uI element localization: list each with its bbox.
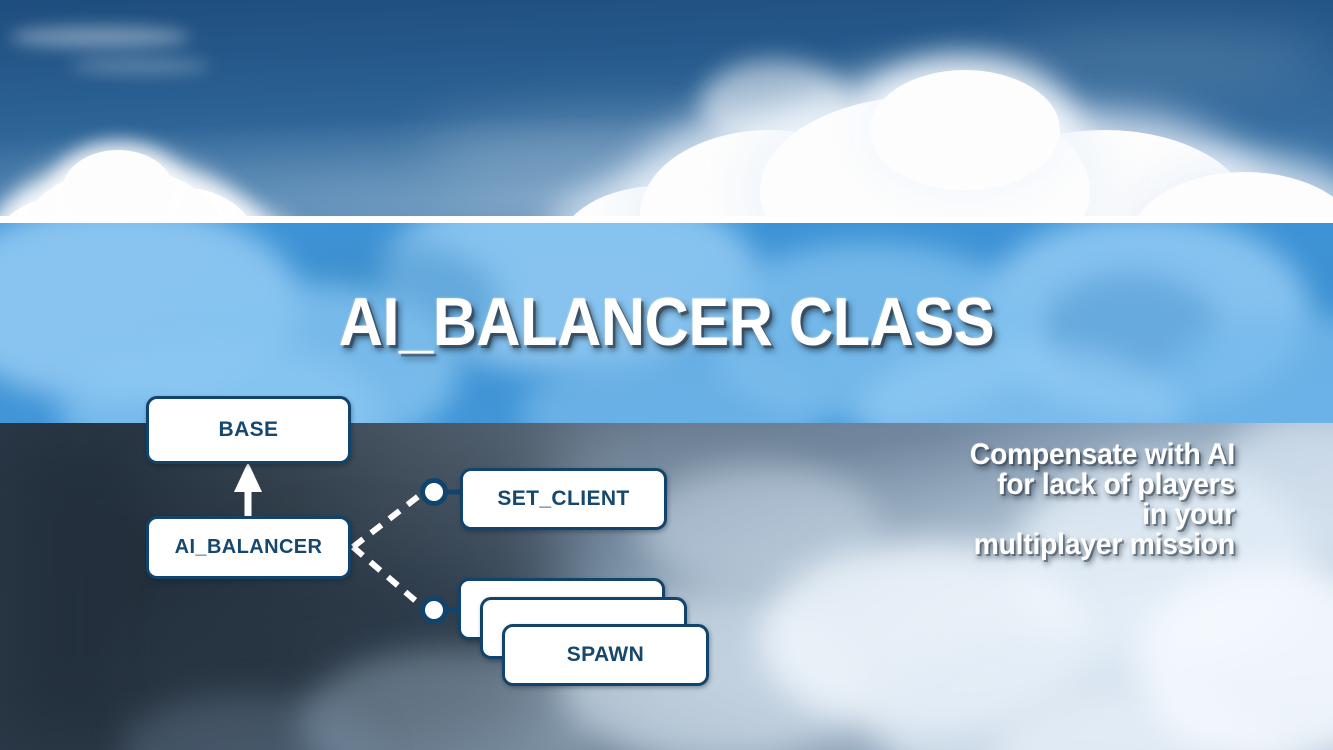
edge-inheritance-arrow: [234, 462, 262, 516]
class-node-spawn[interactable]: SPAWN: [502, 624, 709, 686]
class-node-set-client[interactable]: SET_CLIENT: [460, 468, 667, 530]
edge-to-spawn: [353, 547, 460, 622]
class-node-base[interactable]: BASE: [146, 396, 351, 464]
slide-root: AI_BALANCER CLASS Compensate with AI for…: [0, 0, 1333, 750]
edge-to-set-client: [353, 481, 462, 548]
class-node-spawn-stack[interactable]: SPAWN: [458, 578, 718, 690]
class-diagram: BASE AI_BALANCER SET_CLIENT SPAWN: [0, 0, 1333, 750]
class-node-ai-balancer[interactable]: AI_BALANCER: [146, 516, 351, 579]
